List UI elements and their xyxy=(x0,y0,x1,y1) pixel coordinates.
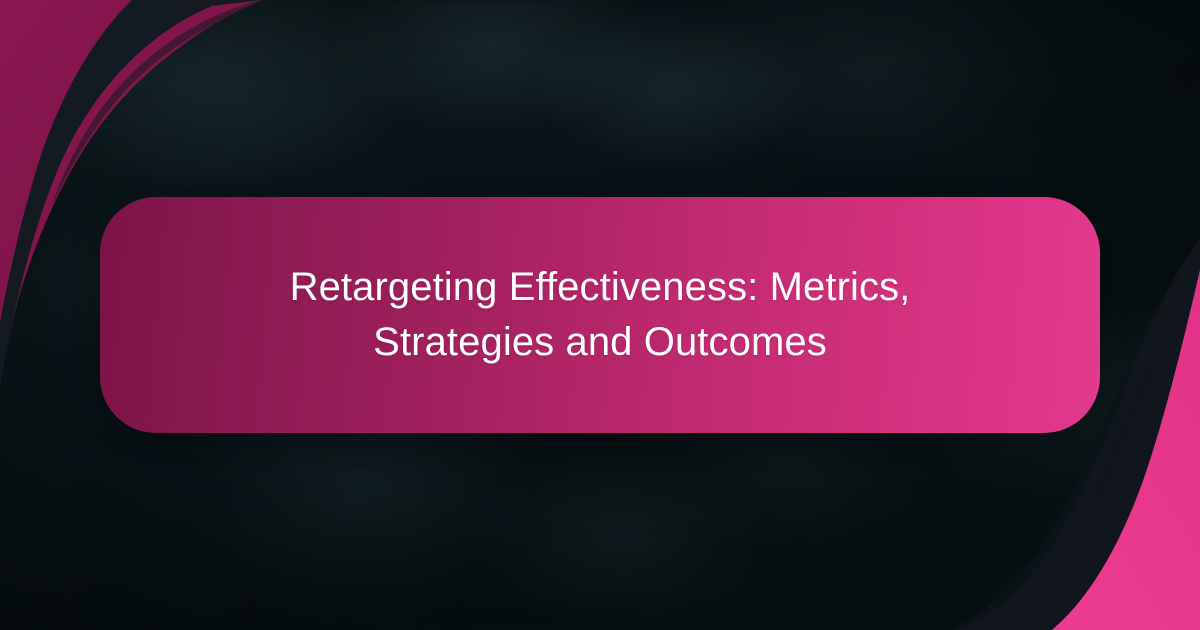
social-share-card: Retargeting Effectiveness: Metrics, Stra… xyxy=(0,0,1200,630)
title-card: Retargeting Effectiveness: Metrics, Stra… xyxy=(100,197,1100,433)
page-title: Retargeting Effectiveness: Metrics, Stra… xyxy=(220,260,981,370)
